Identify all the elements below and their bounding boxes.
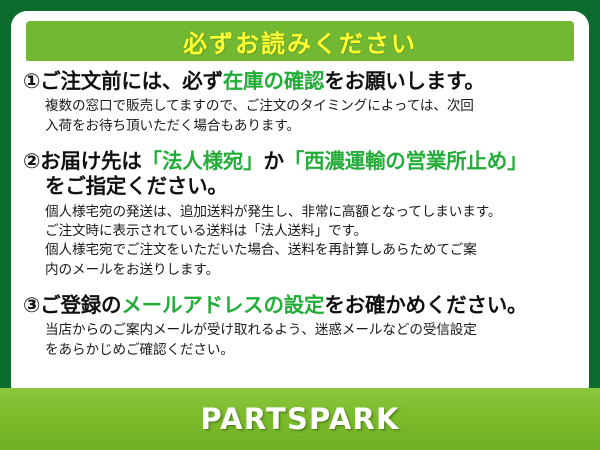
item-2-heading-part-1: ②お届け先は (23, 149, 142, 173)
notice-poster: 必ずお読みください ①ご注文前には、必ず在庫の確認をお願いします。 複数の窓口で… (0, 0, 600, 450)
notice-item-3: ③ご登録のメールアドレスの設定をお確かめください。 当店からのご案内メールが受け… (11, 293, 589, 360)
item-3-heading-part-1: ③ご登録の (23, 293, 121, 317)
item-1-body: 複数の窓口で販売してますので、ご注文のタイミングによっては、次回 入荷をお待ち頂… (23, 97, 579, 136)
item-2-body-line-1: 個人様宅宛の発送は、追加送料が発生し、非常に高額となってしまいます。 (45, 203, 579, 222)
item-1-heading-highlight: 在庫の確認 (223, 69, 325, 93)
notice-item-1: ①ご注文前には、必ず在庫の確認をお願いします。 複数の窓口で販売してますので、ご… (11, 69, 589, 136)
item-3-body-line-1: 当店からのご案内メールが受け取れるよう、迷惑メールなどの受信設定 (45, 321, 579, 340)
item-2-body: 個人様宅宛の発送は、追加送料が発生し、非常に高額となってしまいます。 ご注文時に… (23, 203, 579, 280)
header-title: 必ずお読みください (183, 24, 417, 59)
notice-item-2: ②お届け先は「法人様宛」か「西濃運輸の営業所止め」 をご指定ください。 個人様宅… (11, 149, 589, 280)
item-2-body-line-2: ご注文時に表示されている送料は「法人送料」です。 (45, 222, 579, 241)
item-2-heading-line-2: をご指定ください。 (23, 174, 579, 199)
item-2-heading: ②お届け先は「法人様宛」か「西濃運輸の営業所止め」 (23, 149, 579, 174)
item-3-heading-highlight: メールアドレスの設定 (121, 293, 324, 317)
item-3-body: 当店からのご案内メールが受け取れるよう、迷惑メールなどの受信設定 をあらかじめご… (23, 321, 579, 360)
item-1-heading-part-1: ①ご注文前には、必ず (23, 69, 223, 93)
item-2-body-line-3: 個人様宅宛でご注文をいただいた場合、送料を再計算しあらためてご案 (45, 241, 579, 260)
item-3-body-line-2: をあらかじめご確認ください。 (45, 341, 579, 360)
item-2-heading-part-3: か (263, 149, 283, 173)
item-2-body-line-4: 内のメールをお送りします。 (45, 261, 579, 280)
item-1-body-line-2: 入荷をお待ち頂いただく場合もあります。 (45, 117, 579, 136)
item-1-heading-part-3: をお願いします。 (324, 69, 484, 93)
item-2-heading-highlight-2: 「西濃運輸の営業所止め」 (284, 149, 528, 173)
brand-name: PARTSPARK (200, 402, 399, 436)
item-3-heading: ③ご登録のメールアドレスの設定をお確かめください。 (23, 293, 579, 318)
brand-band: PARTSPARK (0, 388, 600, 450)
notice-content: ①ご注文前には、必ず在庫の確認をお願いします。 複数の窓口で販売してますので、ご… (11, 67, 589, 360)
item-2-heading-highlight-1: 「法人様宛」 (142, 149, 264, 173)
item-1-heading: ①ご注文前には、必ず在庫の確認をお願いします。 (23, 69, 579, 94)
item-3-heading-part-3: をお確かめください。 (324, 293, 527, 317)
header-bar: 必ずお読みください (26, 21, 574, 61)
item-1-body-line-1: 複数の窓口で販売してますので、ご注文のタイミングによっては、次回 (45, 97, 579, 116)
notice-card: 必ずお読みください ①ご注文前には、必ず在庫の確認をお願いします。 複数の窓口で… (11, 11, 589, 401)
